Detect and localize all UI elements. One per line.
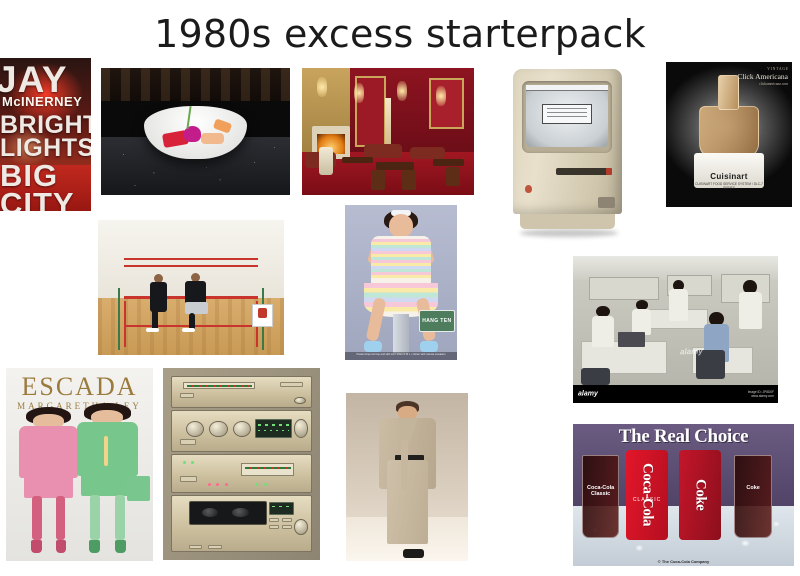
stereo-toggle[interactable] — [180, 393, 194, 399]
squash-out-line — [124, 258, 258, 260]
pastel-ad-caption: Pastel stripe knit top and skirt set • s… — [345, 352, 457, 360]
escada-logo: ESCADA — [6, 372, 153, 402]
stereo-bass-knob[interactable] — [186, 421, 204, 437]
coke-headline: The Real Choice — [573, 426, 794, 448]
panel-cuisinart-ad: V I N T A G E Click Americana clickameri… — [666, 62, 792, 207]
office-worker — [667, 280, 690, 321]
stereo-balance-knob[interactable] — [233, 421, 251, 437]
pastel-acrylic-stool — [393, 314, 409, 354]
panel-coca-cola-ad: The Real Choice Coca-Cola Classic Coca-C… — [573, 424, 794, 566]
office-worker — [630, 300, 653, 335]
page-title: 1980s excess starterpack — [0, 12, 800, 56]
pastel-sneaker-right — [420, 341, 438, 352]
stereo-deck-button[interactable] — [282, 518, 292, 522]
pastel-sign-label: HANG TEN — [422, 318, 451, 324]
coke-glass-left-label: Coca-Cola Classic — [583, 485, 619, 497]
lounge-floor-lamp — [319, 147, 333, 175]
panel-squash-court — [98, 220, 284, 355]
credit-brand: Click Americana — [737, 72, 788, 82]
cassette-spool-left — [202, 508, 219, 517]
runway-dress-shoe — [403, 549, 424, 557]
chandelier-icon — [317, 77, 327, 97]
panel-macintosh — [500, 58, 640, 248]
stereo-small-knob[interactable] — [294, 397, 305, 404]
panel-pastel-fashion-ad: HANG TEN Pastel stripe knit top and skir… — [345, 205, 457, 360]
panel-escada-ad: ESCADA MARGARETHA LEY — [6, 368, 153, 561]
book-cover-text: JAY McINERNEY BRIGHT LIGHTS, BIG CITY — [0, 58, 91, 211]
credit-url: clickamericana.com — [737, 82, 788, 87]
stereo-tuner-display — [255, 419, 291, 438]
coke-glass-left: Coca-Cola Classic — [582, 455, 620, 537]
mac-rear-port — [598, 197, 615, 208]
lounge-sofa — [410, 147, 444, 160]
stereo-cassette-door[interactable] — [189, 501, 267, 525]
office-chair — [581, 368, 610, 386]
stereo-deck-knob[interactable] — [294, 519, 308, 535]
wall-sconce-icon — [354, 83, 364, 103]
panel-office-photo: alamy alamy Image ID: JP8D0F www.alamy.c… — [573, 256, 778, 403]
mac-dialog-box — [542, 104, 592, 125]
cuisinart-fine-print: CUISINART FOOD SERVICE SYSTEM / DLC-7 SE… — [694, 182, 765, 190]
stereo-selector-button[interactable] — [180, 439, 195, 445]
coke-footer-copyright: © The Coca-Cola Company — [573, 559, 794, 564]
squash-service-line — [124, 265, 258, 267]
panel-red-lounge — [302, 68, 474, 195]
cuisinart-credit: V I N T A G E Click Americana clickameri… — [737, 67, 788, 87]
squash-shoe — [182, 328, 195, 332]
stereo-led-indicator — [208, 483, 211, 486]
coke-glass-right: Coke — [734, 455, 772, 537]
stereo-deck-display — [269, 502, 294, 514]
wall-sconce-icon — [436, 86, 446, 106]
alamy-footer-bar: alamy Image ID: JP8D0F www.alamy.com — [573, 385, 778, 403]
lounge-mirror — [429, 78, 463, 129]
office-laptop — [618, 332, 645, 347]
stereo-equalizer-unit — [171, 376, 312, 409]
wall-sconce-icon — [397, 81, 407, 101]
coke-can-classic-wordmark: Coca-Cola — [626, 450, 668, 541]
stereo-tuner-unit — [171, 454, 312, 492]
office-shelving — [589, 277, 659, 301]
mac-floppy-slot — [556, 168, 612, 175]
coke-can-coke-wordmark: Coke — [679, 450, 721, 541]
office-worker — [589, 306, 616, 347]
pastel-model-face — [389, 214, 414, 237]
stereo-led-indicator — [191, 461, 194, 464]
squash-player-left — [150, 282, 167, 312]
panel-stereo-stack — [163, 368, 320, 560]
mac-floppy-eject-indicator — [606, 168, 612, 175]
alamy-footer-brand: alamy — [578, 391, 598, 398]
squash-shoe — [146, 328, 159, 332]
escada-handbag — [127, 476, 151, 501]
sashimi-backdrop — [101, 68, 290, 101]
lounge-chair — [446, 167, 460, 186]
panel-book-cover: JAY McINERNEY BRIGHT LIGHTS, BIG CITY — [0, 58, 91, 211]
stereo-power-button[interactable] — [280, 382, 302, 387]
cuisinart-work-bowl — [699, 106, 759, 158]
book-title-line4: CITY — [0, 186, 75, 211]
cuisinart-feed-chute — [718, 75, 739, 110]
starterpack-meme: 1980s excess starterpack JAY McINERNEY B… — [0, 0, 800, 576]
coke-can-coke: Coke — [679, 450, 721, 541]
squash-court-line-left — [124, 301, 126, 347]
alamy-footer-meta: Image ID: JP8D0F www.alamy.com — [748, 390, 774, 398]
lounge-side-table — [433, 159, 464, 165]
office-worker-standing — [737, 280, 764, 330]
stereo-receiver-unit — [171, 410, 312, 452]
escada-model-pink — [19, 407, 78, 554]
mac-menu-bar — [526, 85, 609, 91]
lounge-coffee-table — [342, 157, 373, 163]
stereo-led-indicator — [264, 483, 267, 486]
stereo-led-indicator — [225, 483, 228, 486]
alamy-url: www.alamy.com — [751, 394, 774, 398]
stereo-deck-button[interactable] — [282, 525, 292, 529]
lounge-dining-table — [376, 162, 414, 170]
mac-base — [520, 214, 615, 229]
stereo-deck-eject-button[interactable] — [189, 545, 203, 549]
squash-wall-poster — [252, 304, 272, 327]
lounge-pillar — [385, 98, 392, 146]
coke-can-classic-sub: CLASSIC — [626, 497, 668, 503]
stereo-cassette-deck-unit — [171, 495, 312, 553]
stereo-led-indicator — [255, 483, 258, 486]
squash-player-shorts — [185, 302, 207, 314]
panel-sashimi — [101, 68, 290, 195]
lounge-chair — [371, 170, 385, 190]
mac-shadow — [520, 229, 618, 237]
coke-glass-right-label: Coke — [735, 485, 771, 491]
alamy-watermark: alamy — [679, 347, 702, 357]
pastel-sneaker-left — [364, 341, 382, 352]
stereo-band-button[interactable] — [180, 476, 197, 482]
stereo-volume-knob[interactable] — [294, 419, 308, 438]
pastel-striped-top — [371, 236, 431, 286]
sashimi-hamachi — [201, 133, 224, 144]
stereo-led-indicator — [216, 483, 219, 486]
lounge-chair — [402, 170, 416, 190]
cuisinart-brand-label: Cuisinart — [694, 172, 765, 181]
runway-scarf — [401, 440, 408, 490]
stereo-vu-meter — [241, 463, 294, 476]
cassette-spool-right — [232, 508, 249, 517]
stereo-led-indicator — [183, 461, 186, 464]
stereo-deck-button[interactable] — [269, 518, 279, 522]
stereo-deck-button[interactable] — [269, 525, 279, 529]
coke-can-classic: Coca-Cola CLASSIC — [626, 450, 668, 541]
panel-runway-suit — [346, 393, 468, 561]
pastel-brand-sign: HANG TEN — [419, 310, 455, 332]
stereo-spectrum-display — [183, 382, 255, 389]
stereo-deck-play-button[interactable] — [208, 545, 222, 549]
squash-glass-wall-left — [118, 288, 120, 350]
book-author-last: McINERNEY — [2, 94, 82, 109]
stereo-treble-knob[interactable] — [209, 421, 227, 437]
